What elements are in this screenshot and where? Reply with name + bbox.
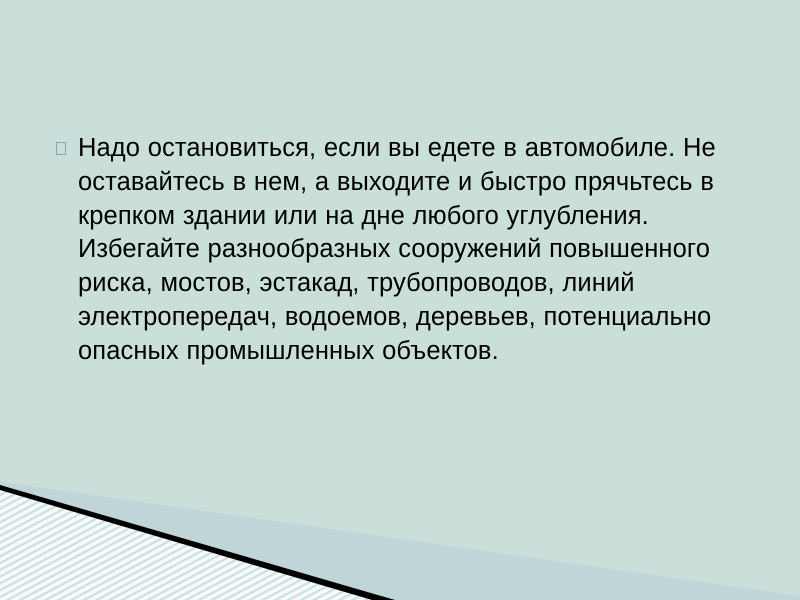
slide-canvas: Надо остановиться, если вы едете в автом… [0,0,800,600]
hollow-box-bullet-icon [56,142,66,155]
black-stripe-shape [0,485,395,600]
light-wedge-shape [0,482,800,600]
list-item[interactable]: Надо остановиться, если вы едете в автом… [52,132,752,369]
hatched-wedge-shape [0,490,372,600]
body-paragraph-text: Надо остановиться, если вы едете в автом… [78,132,752,369]
content-placeholder[interactable]: Надо остановиться, если вы едете в автом… [52,132,752,369]
bottom-left-corner-graphic [0,460,800,600]
